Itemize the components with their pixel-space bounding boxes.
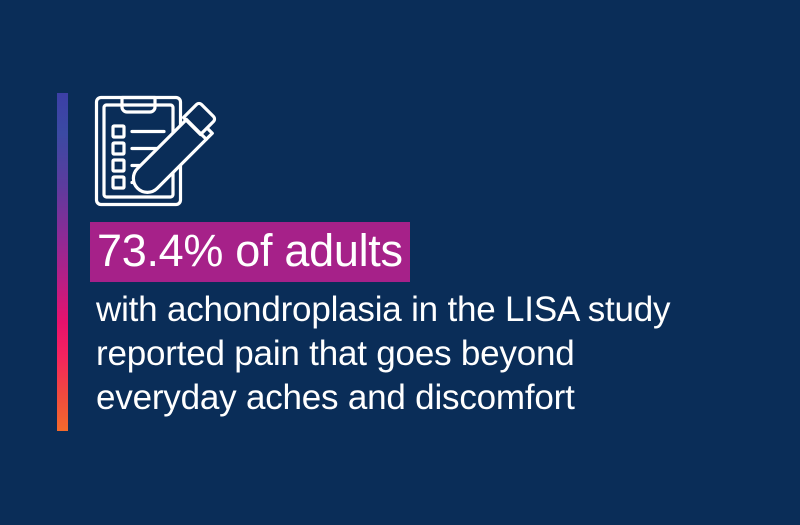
infographic-canvas: 73.4% of adults with achondroplasia in t…: [0, 0, 800, 525]
statistic-text-block: 73.4% of adults with achondroplasia in t…: [90, 222, 750, 420]
body-line-3: everyday aches and discomfort: [90, 376, 750, 420]
body-line-2: reported pain that goes beyond: [90, 332, 750, 376]
checkbox-square-2: [113, 143, 124, 154]
checkbox-square-3: [113, 160, 124, 171]
statistic-highlight: 73.4% of adults: [90, 222, 410, 282]
clipboard-checklist-test-tube-icon: [92, 90, 220, 210]
body-line-1: with achondroplasia in the LISA study: [90, 288, 750, 332]
vertical-gradient-bar: [57, 93, 68, 431]
headline-row: 73.4% of adults: [90, 222, 750, 282]
icon-svg: [92, 90, 220, 210]
checkbox-square-4: [113, 177, 124, 188]
checkbox-square-1: [113, 126, 124, 137]
